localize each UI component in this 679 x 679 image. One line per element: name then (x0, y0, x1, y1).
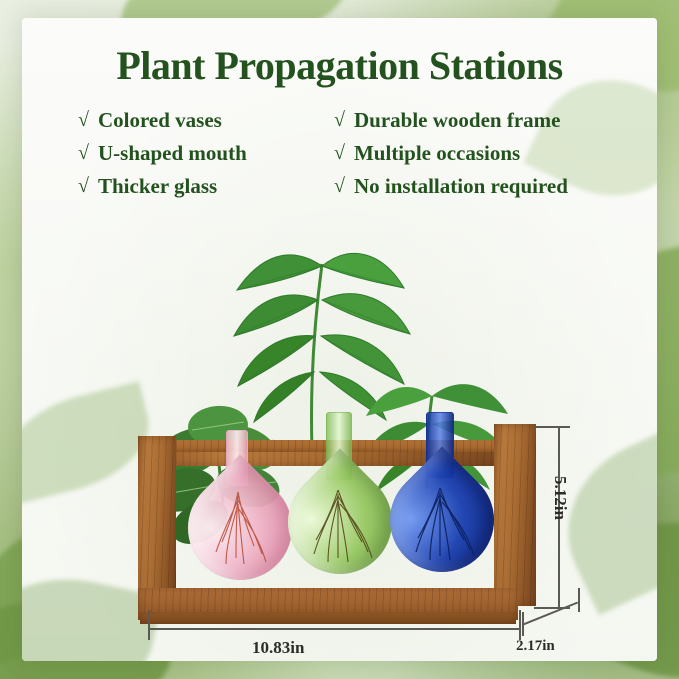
product-card: Plant Propagation Stations √ Colored vas… (22, 18, 657, 661)
height-tick-top (534, 426, 570, 428)
depth-tick-far (578, 588, 580, 612)
feature-label: U-shaped mouth (98, 141, 247, 166)
product-image-canvas: Plant Propagation Stations √ Colored vas… (0, 0, 679, 679)
vase-blue-body (368, 446, 515, 593)
feature-label: Durable wooden frame (354, 108, 560, 133)
vase-blue (384, 412, 520, 604)
depth-dimension-label: 2.17in (516, 638, 555, 655)
feature-item: √ Multiple occasions (334, 137, 618, 170)
width-dimension-label: 10.83in (252, 638, 304, 658)
check-icon: √ (78, 176, 89, 196)
feature-item: √ Thicker glass (78, 170, 310, 203)
check-icon: √ (334, 176, 345, 196)
feature-item: √ Colored vases (78, 104, 310, 137)
feature-list: √ Colored vases √ Durable wooden frame √… (78, 104, 618, 203)
frame-base-front-edge (140, 612, 516, 624)
feature-label: Multiple occasions (354, 141, 520, 166)
check-icon: √ (334, 110, 345, 130)
feature-item: √ No installation required (334, 170, 618, 203)
height-dimension-label: 5.12in (550, 476, 570, 520)
width-dimension-line (148, 628, 520, 630)
feature-item: √ Durable wooden frame (334, 104, 618, 137)
depth-tick-near (522, 612, 524, 636)
width-tick-right (519, 610, 521, 640)
feature-label: Thicker glass (98, 174, 217, 199)
page-title: Plant Propagation Stations (22, 42, 657, 89)
check-icon: √ (78, 143, 89, 163)
check-icon: √ (78, 110, 89, 130)
feature-item: √ U-shaped mouth (78, 137, 310, 170)
feature-label: No installation required (354, 174, 568, 199)
width-tick-left (148, 610, 150, 640)
feature-label: Colored vases (98, 108, 222, 133)
frame-left-post (138, 436, 176, 612)
product-photo: 5.12in 10.83in 2.17in (22, 214, 657, 661)
check-icon: √ (334, 143, 345, 163)
